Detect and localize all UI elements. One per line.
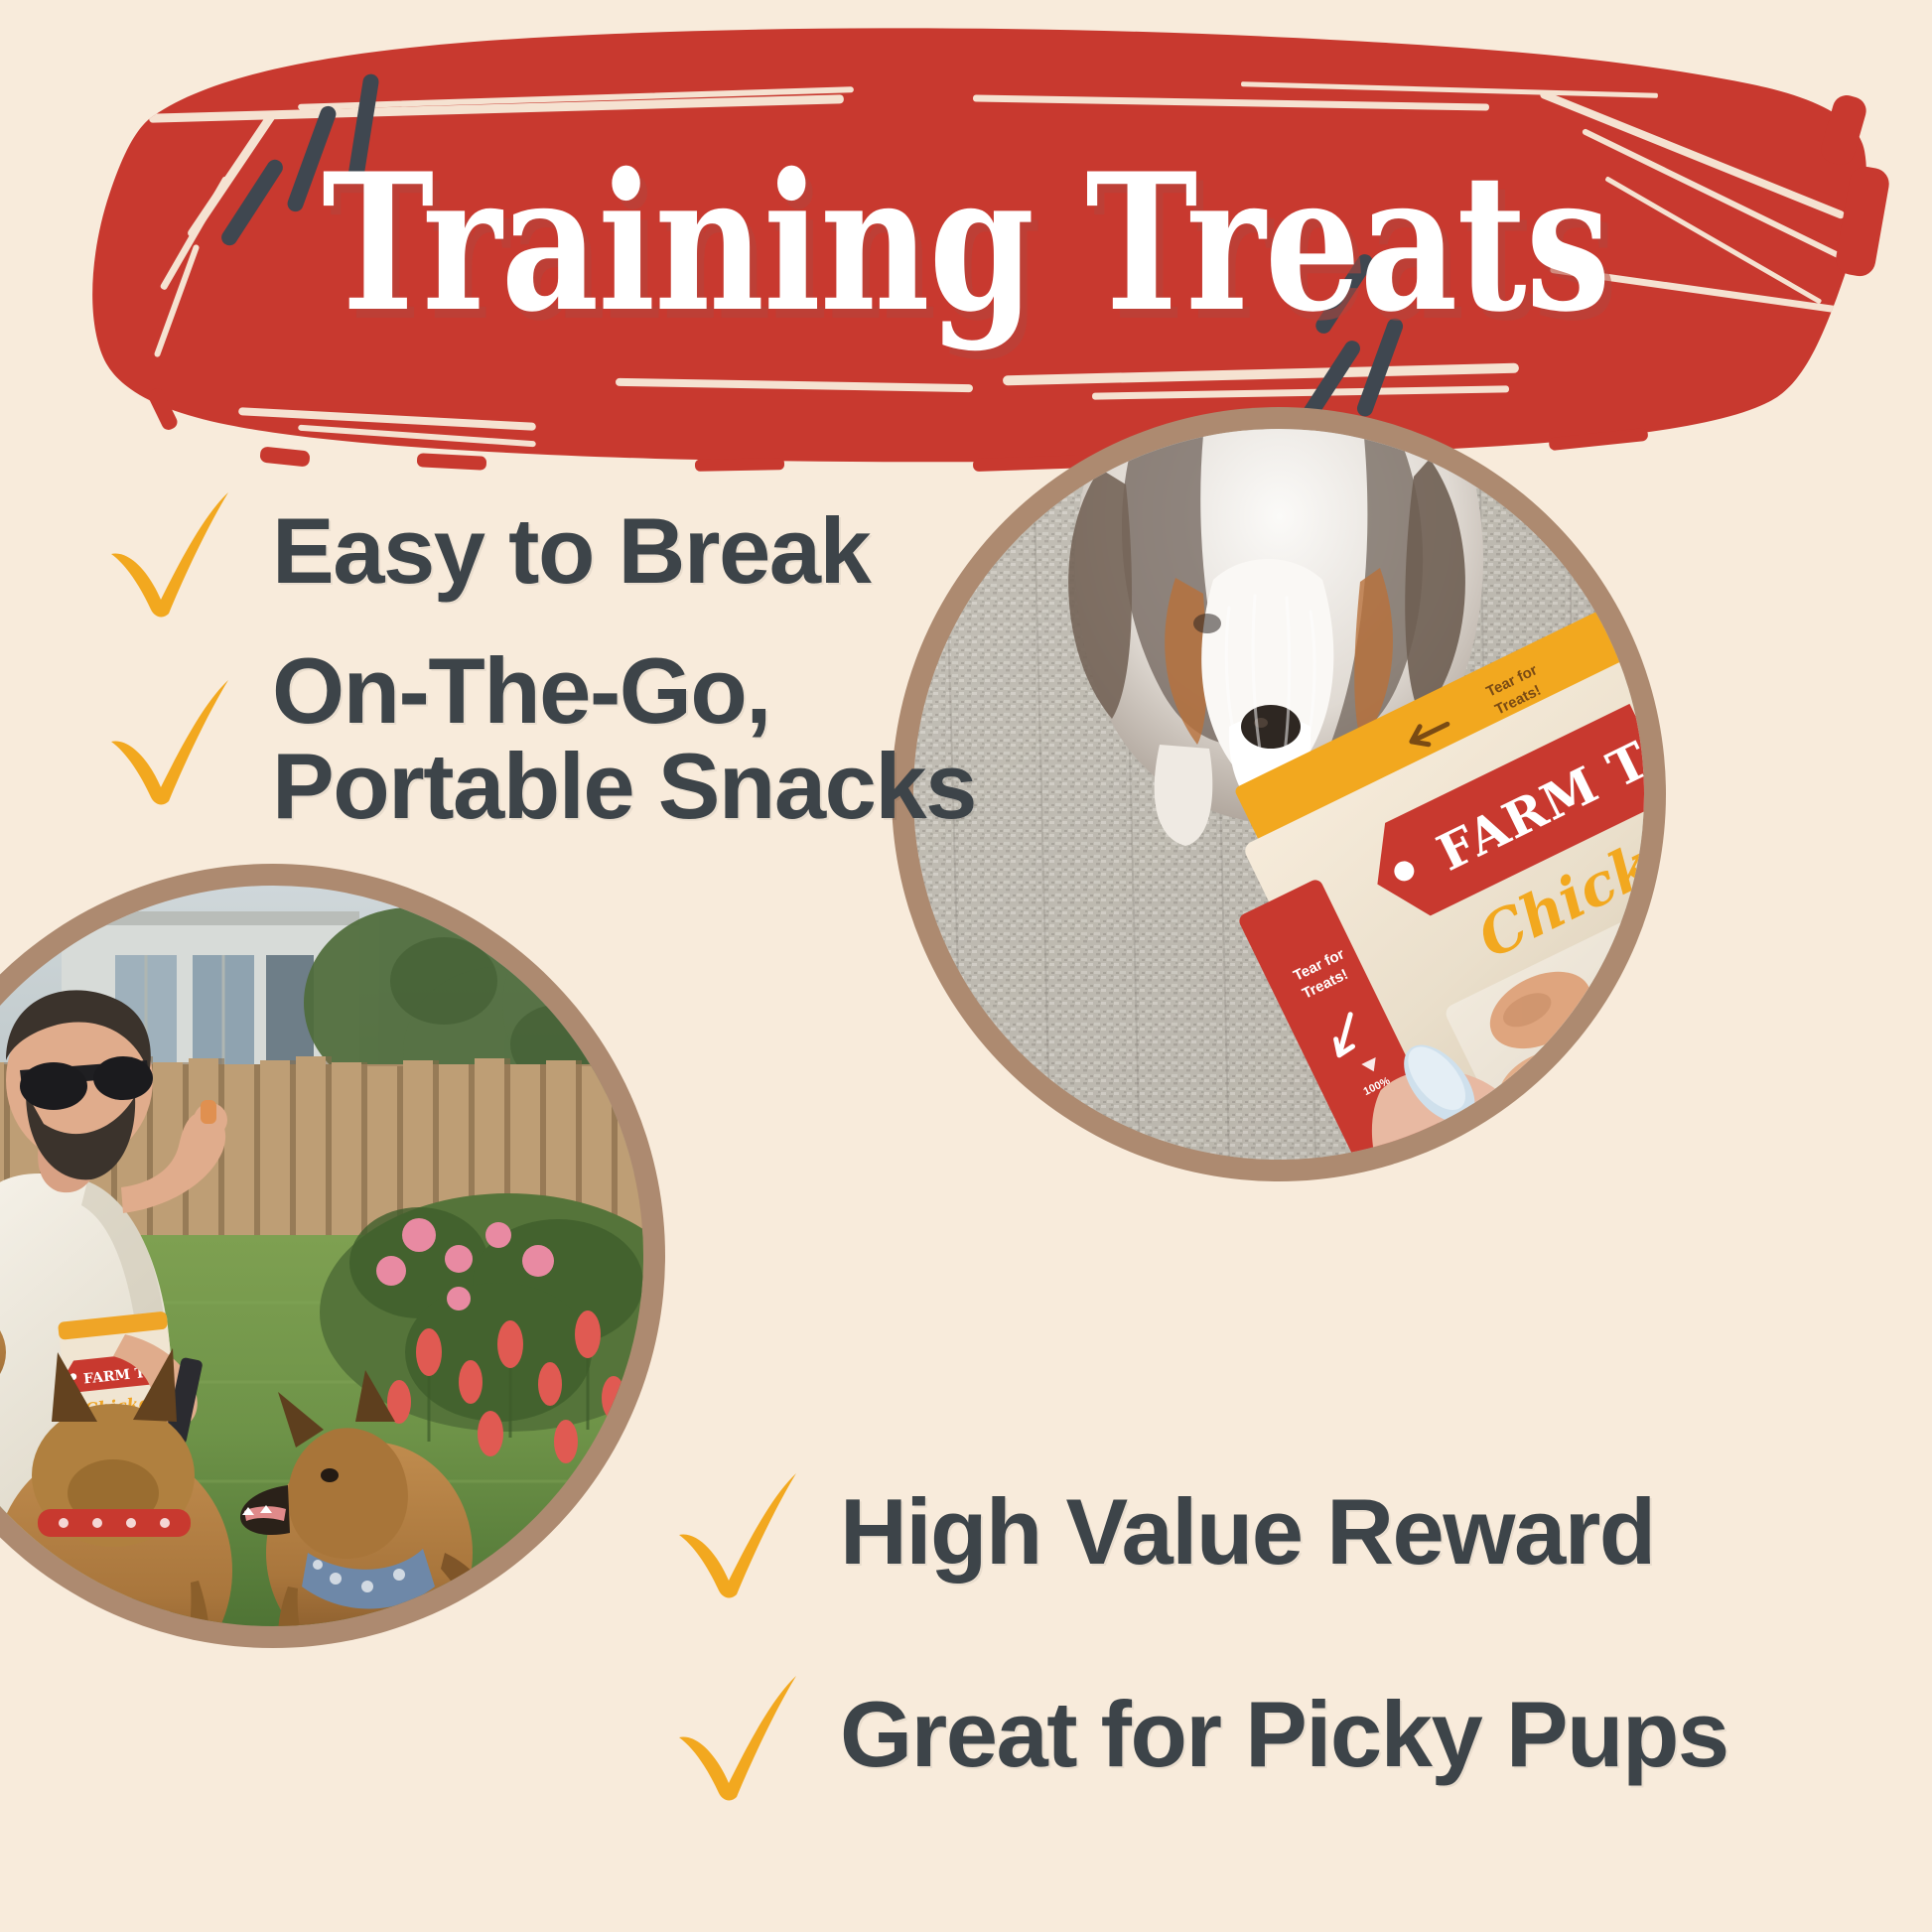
puppy-photo-illustration: Tear for Treats! Tear for Treats! — [913, 429, 1644, 1160]
poster-canvas: Training Treats — [0, 0, 1932, 1932]
checkmark-icon — [663, 1660, 812, 1809]
feature-label: On-The-Go, Portable Snacks — [272, 643, 976, 834]
feature-high-value-reward: High Value Reward — [663, 1457, 1655, 1606]
feature-label: Great for Picky Pups — [840, 1687, 1728, 1782]
checkmark-icon — [95, 664, 244, 813]
feature-easy-to-break: Easy to Break — [95, 477, 870, 625]
feature-label: High Value Reward — [840, 1484, 1655, 1580]
checkmark-icon — [95, 477, 244, 625]
feature-portable-snacks: On-The-Go, Portable Snacks — [95, 643, 976, 834]
training-photo-illustration: FARM TO Chicken — [0, 886, 643, 1626]
photo-man-training-dogs: FARM TO Chicken — [0, 864, 665, 1648]
header-banner: Training Treats — [0, 0, 1932, 496]
red-brush-stroke — [0, 0, 1932, 496]
feature-label: Easy to Break — [272, 503, 870, 599]
feature-picky-pups: Great for Picky Pups — [663, 1660, 1728, 1809]
photo-puppy-with-treat-bag: Tear for Treats! Tear for Treats! — [892, 407, 1666, 1181]
checkmark-icon — [663, 1457, 812, 1606]
